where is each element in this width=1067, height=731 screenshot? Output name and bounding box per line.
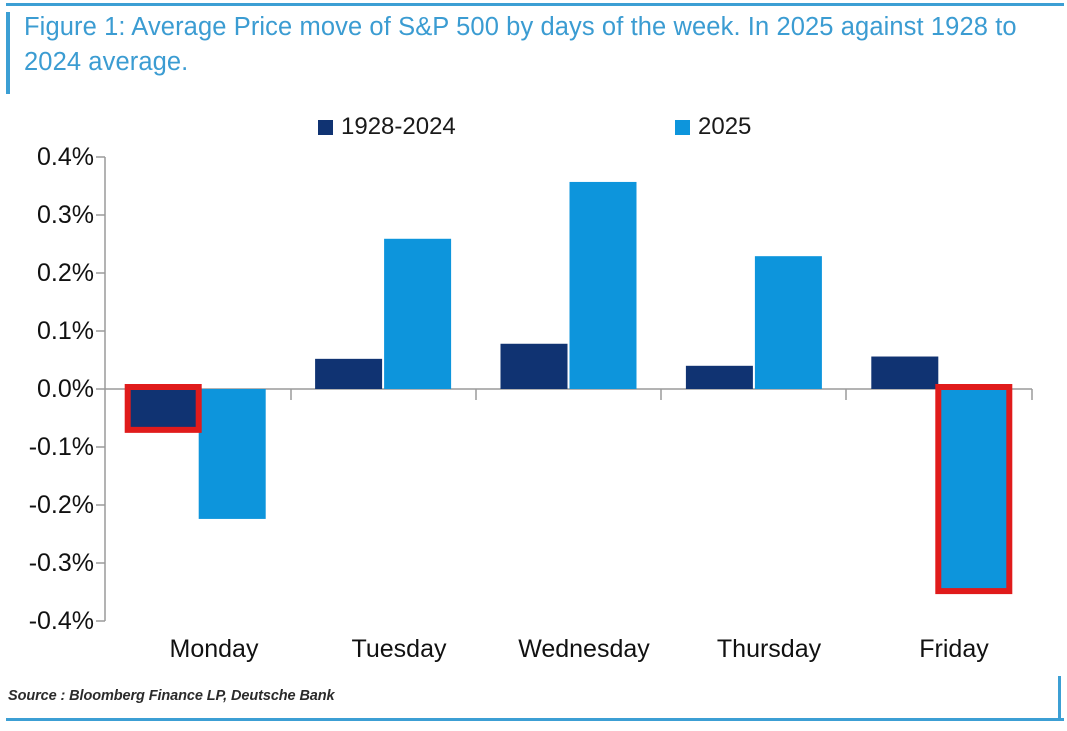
annotation-group [128,387,1010,591]
bottom-divider-rule [6,718,1064,721]
figure-container: Figure 1: Average Price move of S&P 500 … [0,0,1067,731]
source-caption: Source : Bloomberg Finance LP, Deutsche … [8,688,335,704]
bars-group [130,182,1008,589]
x-axis-ticks [291,389,1032,400]
bar-wednesday-1928-2024 [501,344,568,389]
chart-plot-area [0,0,1067,731]
x-axis-tick-label-thursday: Thursday [679,635,859,663]
legend-swatch-icon [675,120,690,135]
bar-friday-2025 [940,389,1007,589]
y-axis-tick-label: -0.4% [8,609,94,634]
y-axis-tick-label: 0.1% [8,319,94,344]
y-axis-tick-label: 0.3% [8,203,94,228]
top-divider-rule [6,3,1064,6]
bar-tuesday-1928-2024 [315,359,382,389]
legend-swatch-icon [318,120,333,135]
x-axis-tick-label-wednesday: Wednesday [494,635,674,663]
y-axis-tick-label: 0.2% [8,261,94,286]
chart-svg [0,0,1067,731]
footer-accent-tick [1058,676,1061,720]
legend-item-1928-2024: 1928-2024 [318,113,456,141]
bar-wednesday-2025 [570,182,637,389]
x-axis-tick-label-monday: Monday [124,635,304,663]
bar-thursday-1928-2024 [686,366,753,389]
bar-thursday-2025 [755,256,822,389]
legend-item-label: 1928-2024 [341,113,456,141]
y-axis-tick-label: 0.4% [8,145,94,170]
monday-1928-2024-highlight-box [128,387,199,430]
y-axis-tick-label: -0.2% [8,493,94,518]
y-axis-tick-label: 0.0% [8,377,94,402]
x-axis-tick-label-tuesday: Tuesday [309,635,489,663]
chart-legend: 1928-2024 2025 [0,113,1067,147]
bar-monday-1928-2024 [130,389,197,428]
x-axis-tick-label-friday: Friday [864,635,1044,663]
bar-tuesday-2025 [384,239,451,389]
y-axis-tick-label: -0.1% [8,435,94,460]
friday-2025-highlight-box [938,387,1009,591]
y-axis-tick-labels: 0.4% 0.3% 0.2% 0.1% 0.0% -0.1% -0.2% -0.… [8,0,94,731]
bar-friday-1928-2024 [871,357,938,389]
axis-group [96,157,1032,621]
legend-item-2025: 2025 [675,113,751,141]
y-axis-ticks [96,157,105,621]
figure-title-block: Figure 1: Average Price move of S&P 500 … [6,12,1046,94]
legend-item-label: 2025 [698,113,751,141]
bar-monday-2025 [199,389,266,519]
y-axis-tick-label: -0.3% [8,551,94,576]
page-title: Figure 1: Average Price move of S&P 500 … [24,10,1034,80]
